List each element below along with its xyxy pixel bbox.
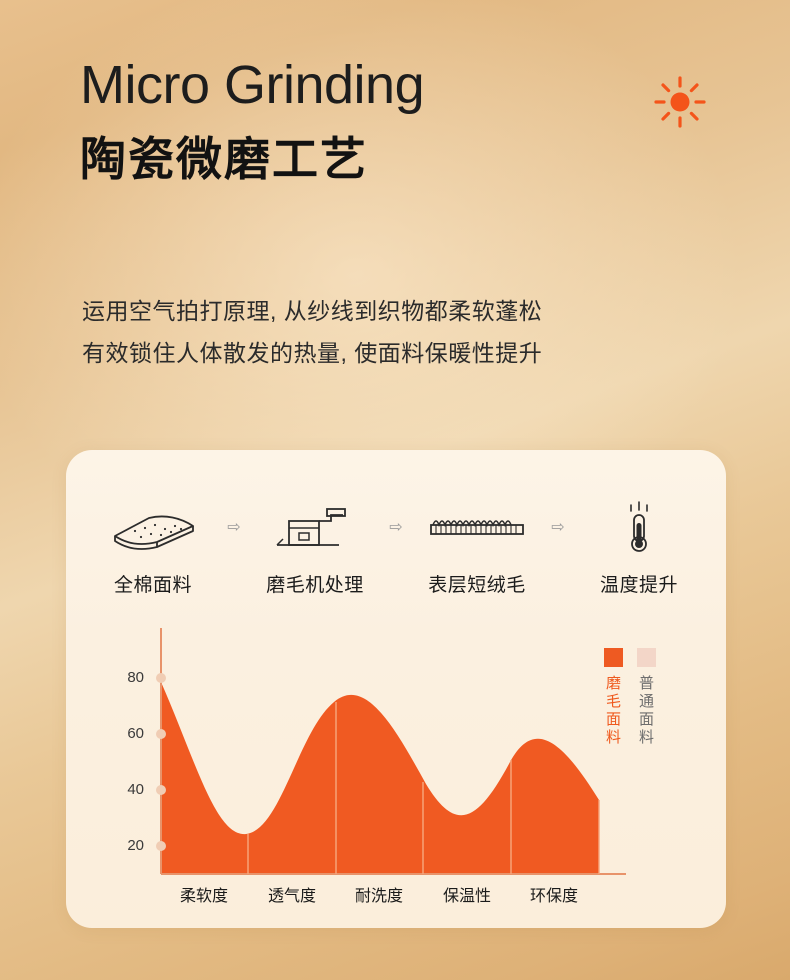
page-title-cn: 陶瓷微磨工艺 [80,133,368,186]
y-axis-tick-80: 80 [108,669,144,686]
process-step-4: 温度提升 [580,498,698,597]
y-axis-tick-40: 40 [108,781,144,798]
legend-swatch-secondary [637,648,656,667]
process-step-2: 磨毛机处理 [256,498,374,597]
description-line-2: 有效锁住人体散发的热量, 使面料保暖性提升 [82,332,542,374]
chart-legend: 磨毛面料 普通面料 [604,648,714,747]
process-step-4-label: 温度提升 [580,570,698,597]
sanding-machine-icon [256,498,374,556]
x-axis-tick-2: 透气度 [247,882,337,906]
arrow-icon-3: ⇨ [536,498,580,556]
process-step-3-label: 表层短绒毛 [418,570,536,597]
process-flow: 全棉面料 ⇨ 磨毛机处理 ⇨ [66,498,726,597]
process-step-3: 表层短绒毛 [418,498,536,597]
description-line-1: 运用空气拍打原理, 从纱线到织物都柔软蓬松 [82,290,542,332]
process-step-2-label: 磨毛机处理 [256,570,374,597]
fabric-nap-icon [418,498,536,556]
y-axis-tick-20: 20 [108,837,144,854]
process-step-1-label: 全棉面料 [94,570,212,597]
thermometer-icon [580,498,698,556]
legend-label-secondary: 普通面料 [637,675,656,747]
legend-label-primary: 磨毛面料 [604,675,623,747]
info-card: 全棉面料 ⇨ 磨毛机处理 ⇨ [66,450,726,928]
process-step-1: 全棉面料 [94,498,212,597]
x-axis-tick-1: 柔软度 [159,882,249,906]
x-axis-tick-3: 耐洗度 [334,882,424,906]
x-axis-tick-5: 环保度 [509,882,599,906]
x-axis-tick-4: 保温性 [422,882,512,906]
description-block: 运用空气拍打原理, 从纱线到织物都柔软蓬松 有效锁住人体散发的热量, 使面料保暖… [82,290,542,374]
arrow-icon-1: ⇨ [212,498,256,556]
comparison-chart: 80 60 40 20 柔软度 透气度 耐洗度 保温性 环保度 磨毛面料 普通面… [66,612,726,912]
page-title-en: Micro Grinding [80,58,424,112]
sun-icon [650,72,710,132]
arrow-icon-2: ⇨ [374,498,418,556]
fabric-sheet-icon [94,498,212,556]
legend-swatches [604,648,714,667]
y-axis-tick-60: 60 [108,725,144,742]
legend-labels: 磨毛面料 普通面料 [604,675,714,747]
legend-swatch-primary [604,648,623,667]
page-root: Micro Grinding 陶瓷微磨工艺 运用空气拍打原理, 从纱线到织物都柔… [0,0,790,980]
